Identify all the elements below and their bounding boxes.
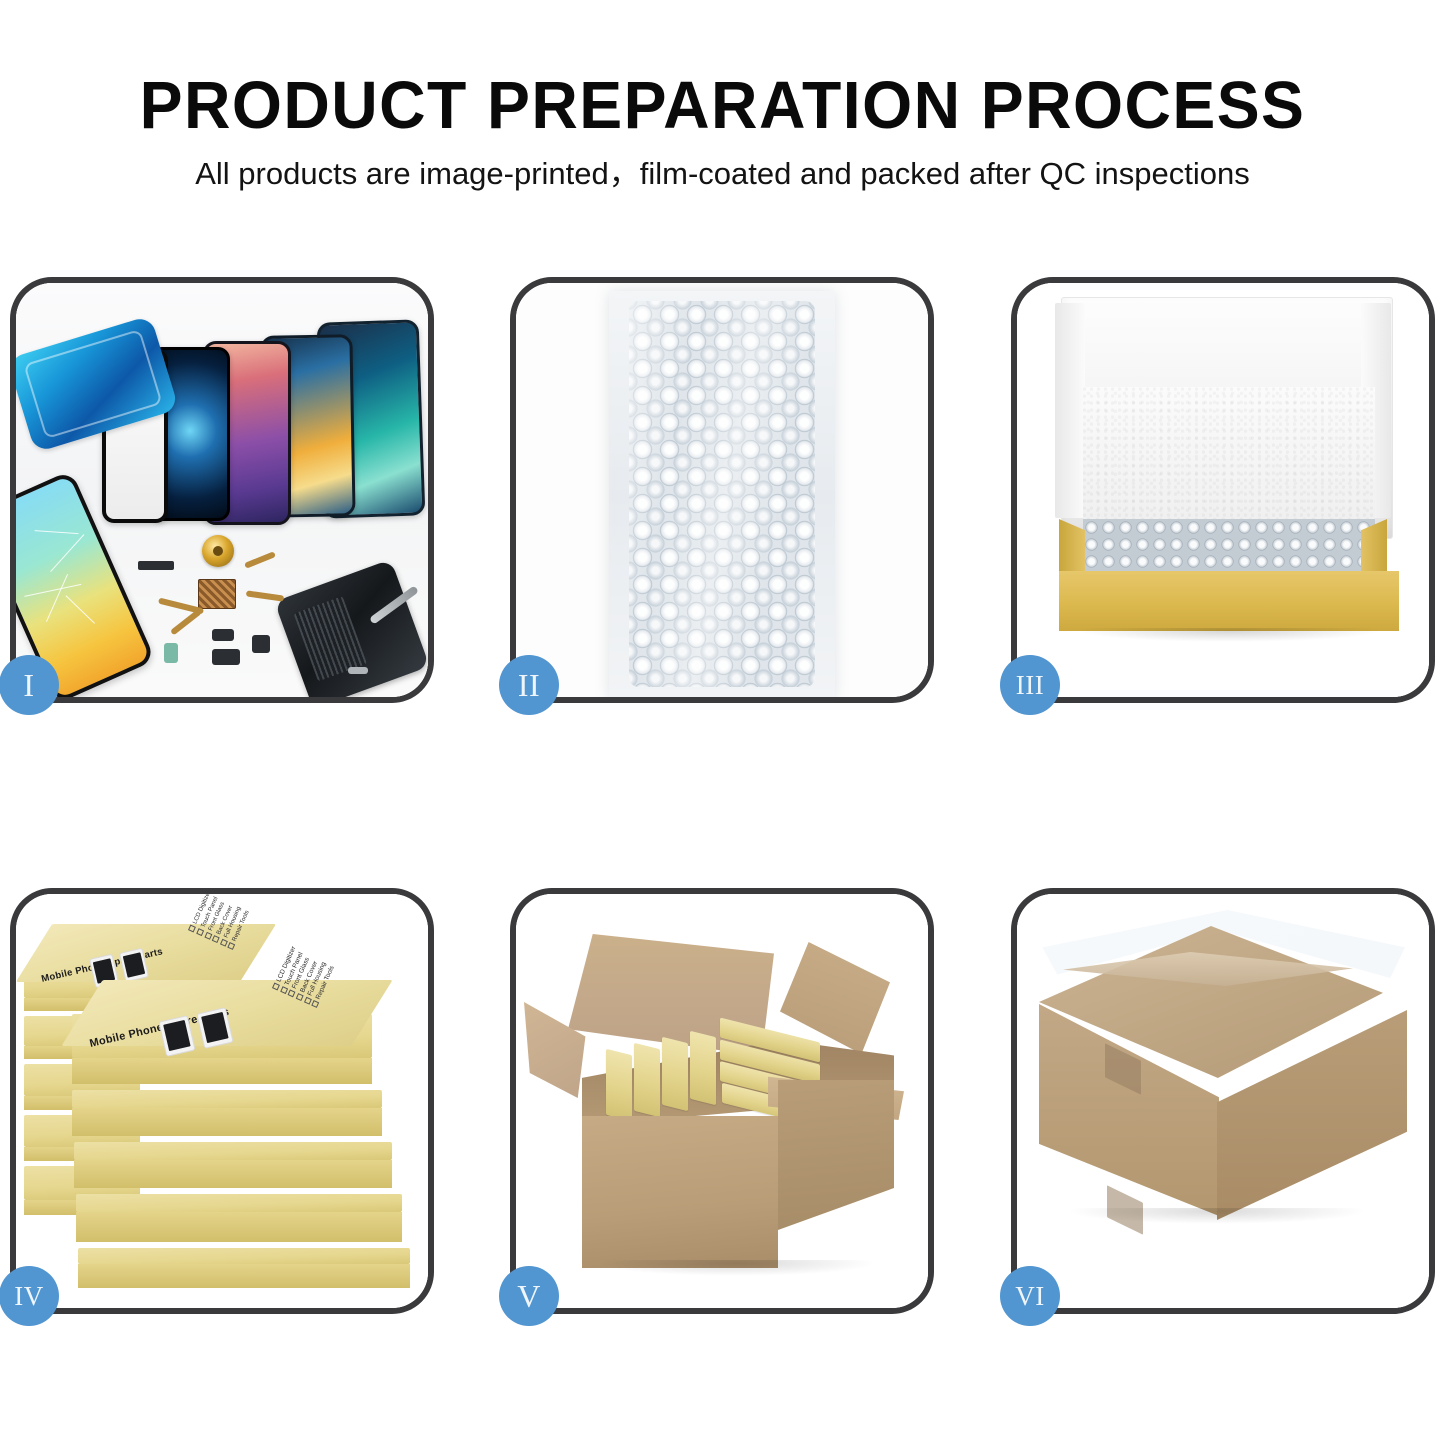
stacked-retail-boxes-scene: Mobile Phone Spare Parts LCD Digitizer T… — [16, 894, 428, 1308]
page-title: PRODUCT PREPARATION PROCESS — [29, 72, 1416, 139]
process-step-panel-6[interactable]: VI — [1011, 888, 1435, 1314]
process-step-panel-1[interactable]: I — [10, 277, 434, 703]
camera-module-part — [212, 649, 240, 665]
carton-gold-box-4 — [690, 1031, 716, 1105]
step-badge-5: V — [499, 1266, 559, 1326]
carton-gold-box-1 — [606, 1049, 632, 1121]
box-drop-shadow — [1077, 628, 1382, 642]
stacked-box-front-3-edge — [74, 1160, 392, 1188]
stacked-box-front-3 — [74, 1142, 392, 1160]
step-badge-6: VI — [1000, 1266, 1060, 1326]
panel-image-open-carton — [516, 894, 928, 1308]
panel-image-stacked-boxes: Mobile Phone Spare Parts LCD Digitizer T… — [16, 894, 428, 1308]
bubble-wrap-scene — [516, 283, 928, 697]
stacked-box-front-5-edge — [78, 1264, 410, 1288]
sealed-shipping-carton-scene — [1017, 894, 1429, 1308]
button-part — [252, 635, 270, 653]
foam-liner — [1083, 387, 1375, 521]
carton-drop-shadow — [596, 1260, 876, 1276]
step-badge-2: II — [499, 655, 559, 715]
stacked-box-front-4 — [76, 1194, 402, 1212]
sim-tray-part — [164, 643, 178, 663]
page-subtitle: All products are image-printed，film-coat… — [0, 158, 1445, 189]
earpiece-part — [138, 561, 174, 570]
process-step-panel-3[interactable]: III — [1011, 277, 1435, 703]
panel-image-openbox — [1017, 283, 1429, 697]
process-step-panel-5[interactable]: V — [510, 888, 934, 1314]
open-shipping-carton-scene — [516, 894, 928, 1308]
plastic-sheen — [629, 301, 815, 687]
screw-driver-bit — [348, 667, 368, 674]
open-inner-box-scene — [1017, 283, 1429, 697]
process-step-panel-2[interactable]: II — [510, 277, 934, 703]
box-lid-flap-left — [1055, 303, 1085, 518]
speaker-coil-part — [202, 535, 234, 567]
bubble-wrapped-item-in-box — [1083, 519, 1375, 575]
stacked-box-front-2-edge — [72, 1108, 382, 1136]
step-badge-4: IV — [0, 1266, 59, 1326]
step-badge-1: I — [0, 655, 59, 715]
bubble-wrapped-product — [629, 301, 815, 687]
carton-gold-box-3 — [662, 1037, 688, 1111]
ic-chip-part — [198, 579, 236, 609]
step-badge-3: III — [1000, 655, 1060, 715]
sealed-carton-drop-shadow — [1067, 1208, 1367, 1224]
stacked-box-front-5 — [78, 1248, 410, 1264]
process-step-panel-4[interactable]: Mobile Phone Spare Parts LCD Digitizer T… — [10, 888, 434, 1314]
header: PRODUCT PREPARATION PROCESS All products… — [0, 0, 1445, 250]
panel-image-sealed-carton — [1017, 894, 1429, 1308]
phone-parts-collage — [16, 283, 428, 697]
vibrator-part — [212, 629, 234, 641]
stacked-box-front-4-edge — [76, 1212, 402, 1242]
carton-side-right — [778, 1080, 894, 1230]
process-step-grid: I II — [10, 277, 1435, 1317]
stacked-box-front-1-edge — [72, 1058, 372, 1084]
stacked-box-front-2 — [72, 1090, 382, 1108]
carton-gold-box-2 — [634, 1043, 660, 1117]
box-front-panel — [1059, 571, 1399, 631]
panel-image-parts — [16, 283, 428, 697]
carton-side-front — [582, 1116, 778, 1268]
panel-image-bubblewrap — [516, 283, 928, 697]
